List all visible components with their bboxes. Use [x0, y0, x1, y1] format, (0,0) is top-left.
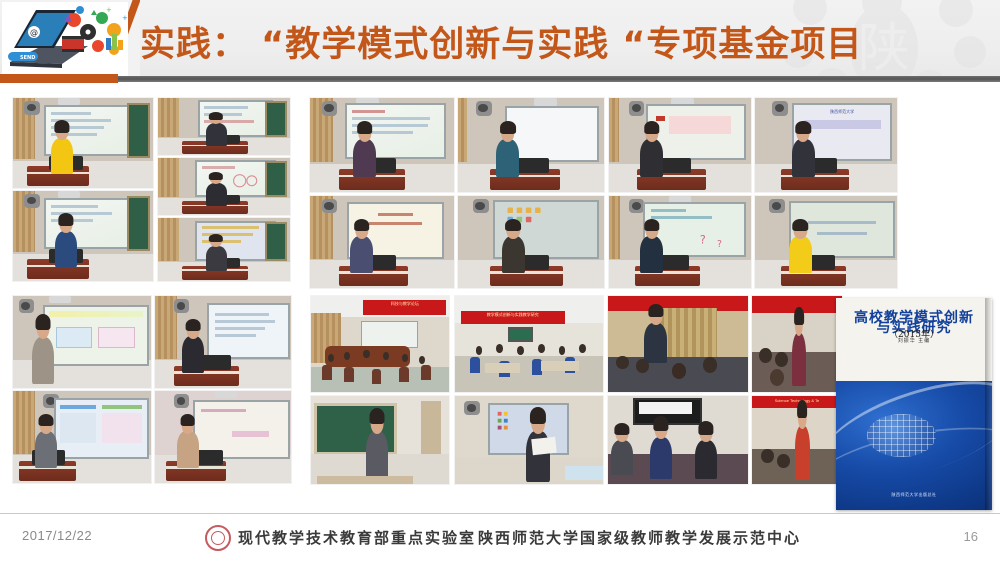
- svg-text:@: @: [30, 28, 38, 37]
- photo-thumbnail[interactable]: [310, 98, 454, 192]
- svg-text:+: +: [106, 6, 112, 14]
- book-spine-edge: [985, 298, 992, 510]
- photo-thumbnail[interactable]: [455, 396, 603, 484]
- svg-text:?: ?: [717, 238, 722, 249]
- book-cover[interactable]: 高校教学模式创新 与实践研究 （2015年） 刘振华 主编 陕西师范大学出版总社: [836, 298, 992, 510]
- book-cover-top: 高校教学模式创新 与实践研究 （2015年） 刘振华 主编: [836, 298, 992, 381]
- banner-text: 科技与教学论坛: [363, 300, 446, 308]
- footer-page-number: 16: [964, 529, 978, 544]
- photo-thumbnail[interactable]: [155, 296, 291, 388]
- meeting-banner: 科技与教学论坛: [363, 300, 446, 315]
- photo-thumbnail[interactable]: [158, 98, 290, 155]
- photo-thumbnail[interactable]: 教学模式创新与实践教学研究: [455, 296, 603, 392]
- university-seal-icon: [205, 525, 231, 551]
- header-accent-bar: [0, 74, 118, 83]
- book-cover-bottom: 陕西师范大学出版总社: [836, 381, 992, 510]
- photo-thumbnail[interactable]: [608, 296, 748, 392]
- book-publisher: 陕西师范大学出版总社: [836, 492, 992, 498]
- banner-text: 教学模式创新与实践教学研究: [461, 311, 565, 319]
- photo-thumbnail[interactable]: [13, 296, 151, 388]
- photo-thumbnail[interactable]: [13, 391, 151, 483]
- footer-divider: [0, 513, 1000, 514]
- logo-send-label: SEND: [20, 55, 35, 61]
- globe-icon: [867, 414, 936, 457]
- photo-thumbnail[interactable]: [311, 396, 449, 484]
- photo-thumbnail[interactable]: [608, 396, 748, 484]
- book-author: 刘振华 主编: [836, 337, 992, 344]
- footer-org-secondary: 陕西师范大学国家级教师教学发展示范中心: [478, 527, 801, 548]
- photo-thumbnail[interactable]: [458, 98, 604, 192]
- svg-text:+: +: [122, 14, 128, 22]
- photo-thumbnail[interactable]: 陕西师范大学: [755, 98, 897, 192]
- footer-org-primary: 现代教学技术教育部重点实验室: [238, 527, 476, 548]
- photo-thumbnail[interactable]: 科技与教学论坛: [311, 296, 449, 392]
- meeting-banner: 教学模式创新与实践教学研究: [461, 311, 565, 323]
- photo-thumbnail[interactable]: [155, 391, 291, 483]
- photo-thumbnail[interactable]: [13, 98, 153, 188]
- photo-thumbnail[interactable]: [755, 196, 897, 288]
- slide-title: 实践： “教学模式创新与实践 “专项基金项目: [140, 10, 940, 72]
- photo-thumbnail[interactable]: [310, 196, 454, 288]
- photo-thumbnail[interactable]: [158, 218, 290, 281]
- photo-thumbnail[interactable]: [458, 196, 604, 288]
- photo-thumbnail[interactable]: [752, 296, 842, 392]
- photo-thumbnail[interactable]: [609, 98, 751, 192]
- presentation-slide: 陕 @ SEND: [0, 0, 1000, 562]
- photo-thumbnail[interactable]: [13, 191, 153, 281]
- svg-text:?: ?: [700, 233, 706, 246]
- photo-thumbnail[interactable]: Science Technology & Te: [752, 396, 842, 484]
- slide-footer: 2017/12/22 现代教学技术教育部重点实验室 陕西师范大学国家级教师教学发…: [0, 513, 1000, 562]
- header-logo: @ SEND: [0, 0, 140, 78]
- photo-thumbnail[interactable]: [158, 158, 290, 215]
- slide-header: 陕 @ SEND: [0, 0, 1000, 80]
- photo-thumbnail[interactable]: ? ?: [609, 196, 751, 288]
- footer-date: 2017/12/22: [22, 528, 92, 543]
- header-divider-bar: [0, 76, 1000, 82]
- multimedia-laptop-icon: @ SEND: [2, 2, 128, 76]
